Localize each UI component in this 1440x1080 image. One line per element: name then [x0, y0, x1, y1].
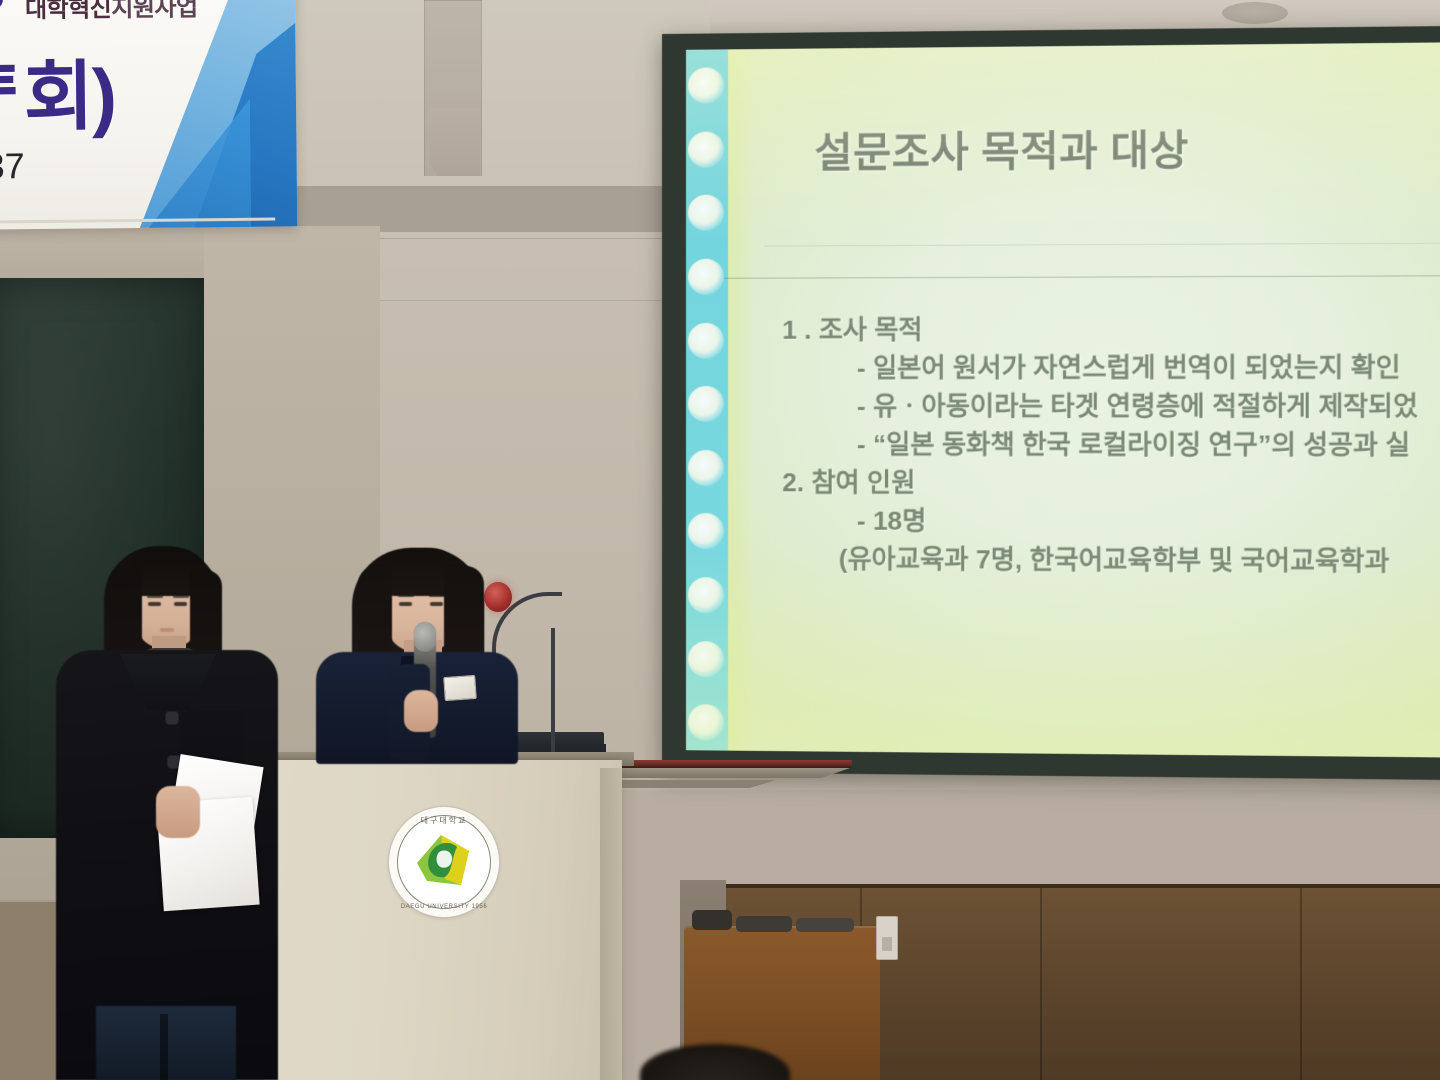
slide-body-line: - 일본어 원서가 자연스럽게 번역이 되었는지 확인: [782, 348, 1440, 388]
wall-seam-lower: [380, 300, 710, 301]
podium-side-shadow: [600, 768, 638, 1080]
slide-decorative-ribbon: [686, 49, 728, 750]
presentation-slide: 설문조사 목적과 대상 1 . 조사 목적- 일본어 원서가 자연스럽게 번역이…: [686, 42, 1440, 758]
ribbon-circle-icon: [688, 195, 724, 231]
ribbon-circle-icon: [688, 705, 724, 741]
slide-rule-main: [724, 275, 1440, 279]
slide-body-line: - 유ㆍ아동이라는 타겟 연령층에 적절하게 제작되었: [782, 387, 1440, 426]
banner-cropped-heading: ᄐ회): [0, 34, 116, 146]
slide-rule-soft: [764, 242, 1440, 246]
banner-number: 437: [0, 145, 25, 188]
ribbon-circle-icon: [688, 259, 724, 295]
ceiling-duct-lower-icon: [430, 108, 480, 176]
slide-body-line: 1 . 조사 목적: [782, 309, 1440, 350]
reader-hand: [156, 786, 200, 838]
ceiling-light-icon: [1222, 2, 1288, 24]
reader-leg-gap: [160, 1014, 168, 1080]
slide-ribbon-edge: [728, 49, 754, 751]
presentation-scene: 설문조사 목적과 대상 1 . 조사 목적- 일본어 원서가 자연스럽게 번역이…: [0, 0, 1440, 1080]
slide-title: 설문조사 목적과 대상: [815, 116, 1189, 179]
ribbon-circle-icon: [688, 386, 724, 422]
banner-program-title: 대학혁신지원사업: [25, 0, 198, 24]
banner-program-title-part1: 대학혁신: [25, 0, 112, 23]
slide-body-line: (유아교육과 7명, 한국어교육학부 및 국어교육학과: [782, 540, 1440, 583]
wall-shelf: [596, 760, 852, 768]
daegu-university-seal-icon: 대구대학교 DAEGU UNIVERSITY 1956: [388, 806, 500, 918]
slide-body-line: - 18명: [782, 502, 1440, 544]
reader-coat-button: [166, 712, 178, 724]
ribbon-circle-icon: [688, 450, 724, 486]
cabinet-items: [692, 906, 870, 934]
ribbon-circle-icon: [688, 641, 724, 677]
ribbon-circle-icon: [688, 577, 724, 613]
event-banner: University Innovation 대학혁신지원사업 ᄐ회) 437: [0, 0, 297, 230]
ribbon-circle-icon: [688, 514, 724, 550]
ribbon-circle-icon: [688, 322, 724, 358]
slide-body: 1 . 조사 목적- 일본어 원서가 자연스럽게 번역이 되었는지 확인- 유ㆍ…: [782, 309, 1440, 583]
banner-program-title-part2: 지원사업: [111, 0, 198, 22]
projection-screen: 설문조사 목적과 대상 1 . 조사 목적- 일본어 원서가 자연스럽게 번역이…: [662, 26, 1440, 780]
seal-latin-text: DAEGU UNIVERSITY 1956: [389, 904, 499, 910]
wall-seam-upper: [380, 238, 710, 239]
power-outlet-icon[interactable]: [876, 916, 898, 960]
gooseneck-microphone-head-icon: [484, 582, 512, 612]
gooseneck-microphone-stem: [551, 628, 555, 760]
ribbon-circle-icon: [688, 131, 724, 167]
seal-korean-text: 대구대학교: [389, 815, 499, 826]
ribbon-circle-icon: [688, 67, 724, 103]
name-badge-icon: [443, 675, 477, 701]
slide-body-line: - “일본 동화책 한국 로컬라이징 연구”의 성공과 실: [782, 426, 1440, 466]
university-innovation-logo-icon: [0, 0, 23, 14]
slide-body-line: 2. 참여 인원: [782, 464, 1440, 505]
seal-leaf-emblem-icon: [411, 829, 475, 893]
speaker-hand: [404, 690, 438, 732]
handheld-microphone-grille-icon: [414, 622, 436, 652]
